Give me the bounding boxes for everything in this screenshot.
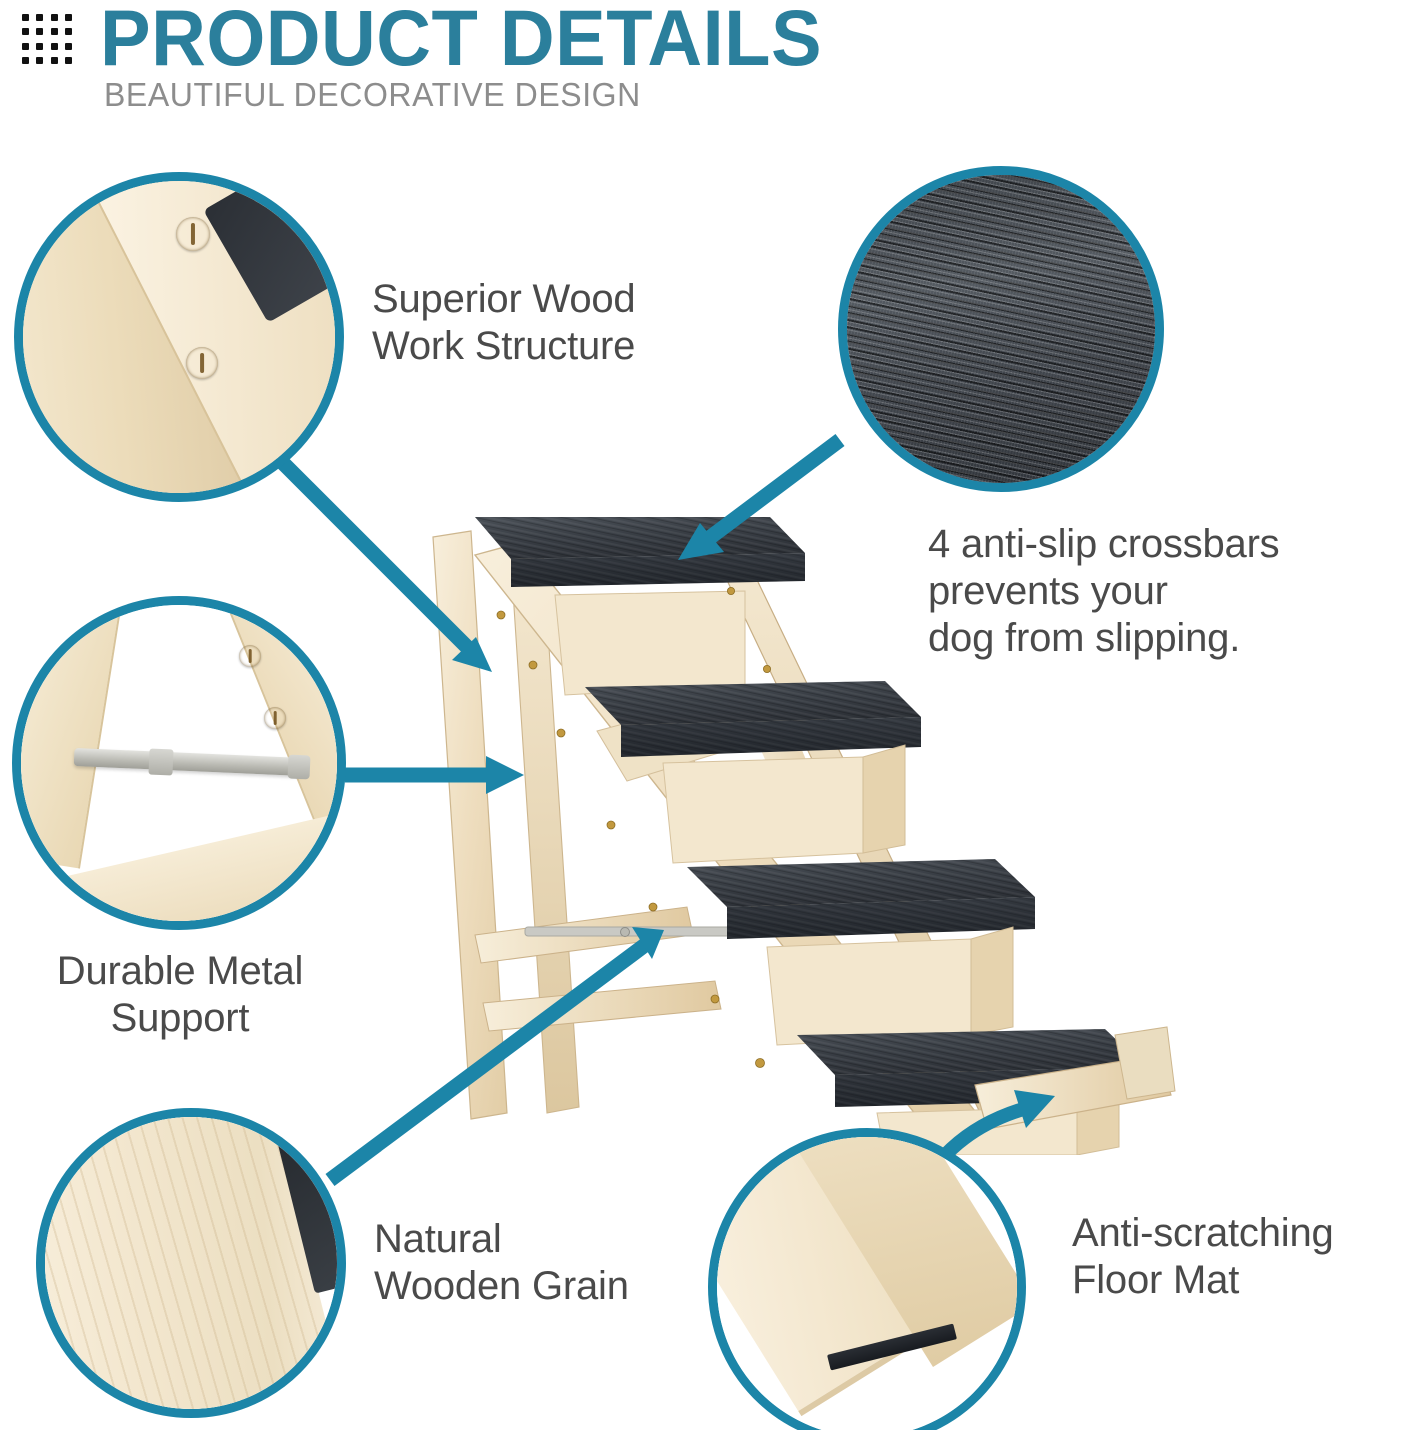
page-title: PRODUCT DETAILS	[100, 0, 822, 80]
callout-label-anti-slip-crossbars: 4 anti-slip crossbars prevents your dog …	[928, 521, 1398, 661]
carpet-texture-closeup-circle	[838, 166, 1164, 492]
metal-brace-icon	[74, 748, 305, 776]
page-subtitle: BEAUTIFUL DECORATIVE DESIGN	[104, 76, 641, 114]
callout-label-anti-scratching-floor-mat: Anti-scratching Floor Mat	[1072, 1210, 1412, 1304]
screw-icon	[186, 347, 218, 379]
dot-grid-icon	[18, 10, 76, 68]
callout-label-natural-wooden-grain: Natural Wooden Grain	[374, 1216, 724, 1310]
screw-icon	[176, 217, 210, 251]
product-details-infographic: PRODUCT DETAILS BEAUTIFUL DECORATIVE DES…	[0, 0, 1413, 1430]
wood-joint-closeup-circle	[14, 172, 344, 502]
screw-icon	[239, 645, 261, 667]
callout-label-durable-metal-support: Durable Metal Support	[10, 948, 350, 1042]
callout-label-superior-wood-work-structure: Superior Wood Work Structure	[372, 276, 792, 370]
wood-grain-closeup-circle	[36, 1108, 346, 1418]
metal-brace-closeup-circle	[12, 596, 346, 930]
floor-mat-closeup-circle	[708, 1128, 1026, 1430]
screw-icon	[264, 707, 286, 729]
